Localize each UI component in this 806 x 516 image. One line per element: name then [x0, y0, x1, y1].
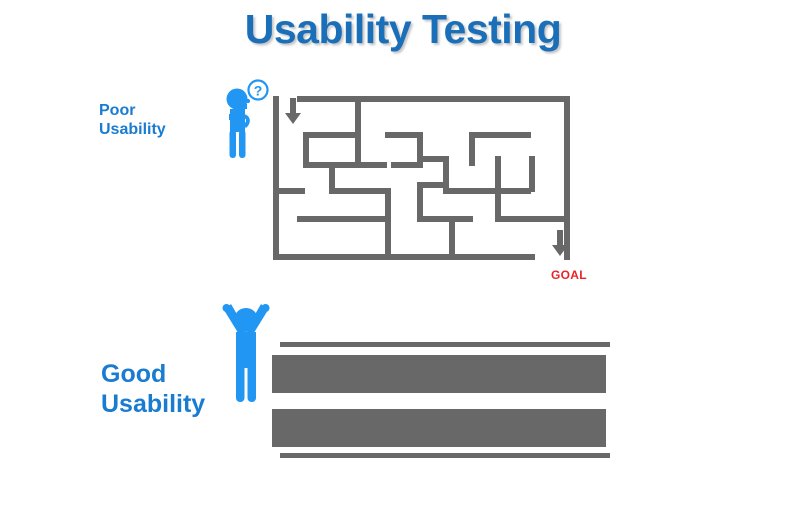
maze-wall: [443, 188, 531, 194]
maze-wall: [273, 188, 305, 194]
maze-wall-border-top: [297, 96, 570, 102]
maze-wall: [495, 156, 501, 222]
celebrating-person-leg-right: [248, 362, 257, 402]
celebrating-person-leg-left: [236, 362, 245, 402]
road-bar-lower: [272, 409, 606, 447]
svg-text:?: ?: [254, 83, 263, 99]
maze-wall: [303, 132, 361, 138]
maze-wall: [297, 216, 391, 222]
maze-wall-border-left: [273, 96, 279, 260]
maze-wall: [335, 188, 391, 194]
maze-wall: [385, 216, 391, 260]
maze-wall: [495, 216, 565, 222]
confused-person-leg-right: [239, 130, 246, 158]
infographic-canvas: Usability Testing Poor Usability ?: [0, 0, 806, 516]
road-bar-upper: [272, 355, 606, 393]
straight-road-diagram: [272, 342, 610, 458]
good-usability-label: Good Usability: [101, 360, 205, 419]
road-line-bottom: [280, 453, 610, 458]
maze-wall: [417, 216, 473, 222]
maze-wall: [449, 216, 455, 260]
maze-wall: [469, 132, 531, 138]
maze-exit-arrow: [551, 230, 569, 263]
maze-wall: [303, 162, 387, 168]
maze-wall: [391, 162, 423, 168]
maze-wall: [469, 132, 475, 166]
confused-person-leg-left: [230, 130, 237, 158]
road-line-top: [280, 342, 610, 347]
maze-wall: [529, 156, 535, 192]
maze-wall-border-bottom: [273, 254, 535, 260]
maze-diagram: [273, 96, 570, 260]
poor-usability-label: Poor Usability: [99, 102, 166, 140]
maze-entrance-arrow: [284, 98, 302, 131]
page-title: Usability Testing: [0, 6, 806, 53]
celebrating-person-head: [234, 308, 258, 332]
goal-label: GOAL: [551, 268, 587, 282]
confused-person-figure: ?: [216, 78, 276, 163]
